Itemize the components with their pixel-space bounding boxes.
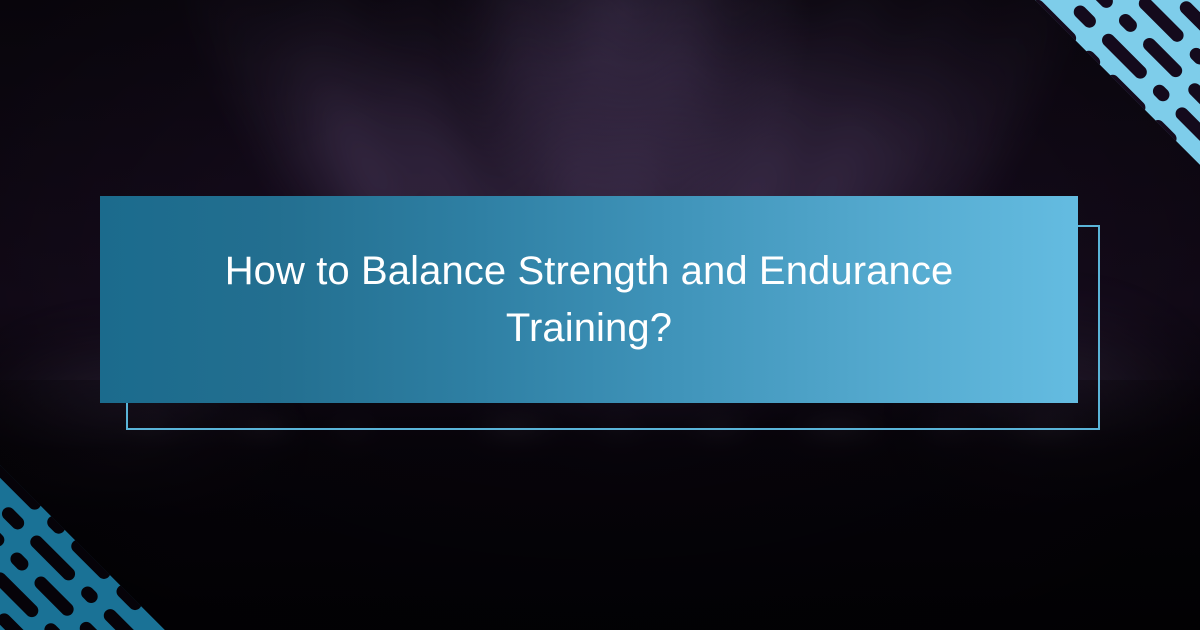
title-banner: How to Balance Strength and Endurance Tr… <box>100 196 1078 403</box>
corner-decoration-top-right <box>1035 0 1200 165</box>
page-title: How to Balance Strength and Endurance Tr… <box>189 243 989 357</box>
corner-decoration-bottom-left <box>0 465 165 630</box>
social-card: How to Balance Strength and Endurance Tr… <box>0 0 1200 630</box>
